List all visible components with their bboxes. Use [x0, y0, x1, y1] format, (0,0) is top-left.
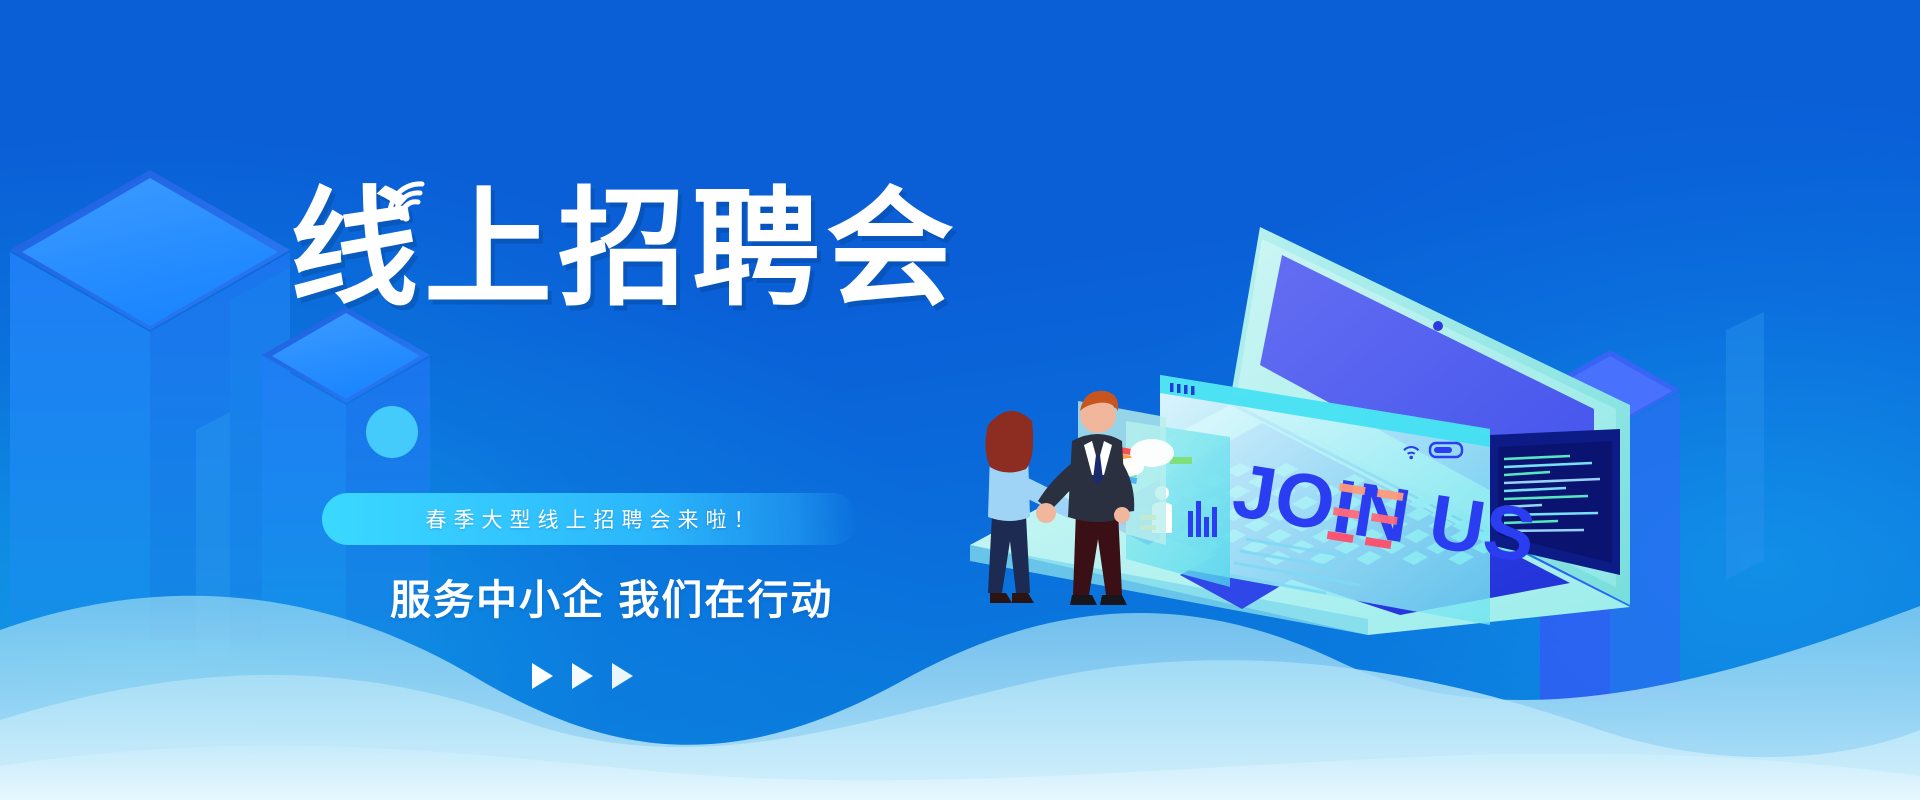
wifi-signal-icon: [382, 176, 432, 222]
arrow-triangle-icon: [612, 663, 633, 689]
event-tagline-text: 春季大型线上招聘会来啦！: [419, 504, 762, 534]
iso-sliver-left: [196, 412, 230, 660]
event-tagline-pill: 春季大型线上招聘会来啦！: [322, 493, 858, 545]
arrow-triangle-icon: [532, 663, 553, 689]
iso-sliver-right: [1726, 312, 1764, 580]
iso-block-left-tall: [10, 170, 290, 640]
recruitment-illustration: JOIN US: [930, 215, 1630, 635]
slogan-text: 服务中小企 我们在行动: [390, 566, 833, 626]
arrow-marks: [532, 663, 633, 689]
arrow-triangle-icon: [572, 663, 593, 689]
recruitment-banner: 线上招聘会 春季大型线上招聘会来啦！ 服务中小企 我们在行动: [0, 0, 1920, 800]
